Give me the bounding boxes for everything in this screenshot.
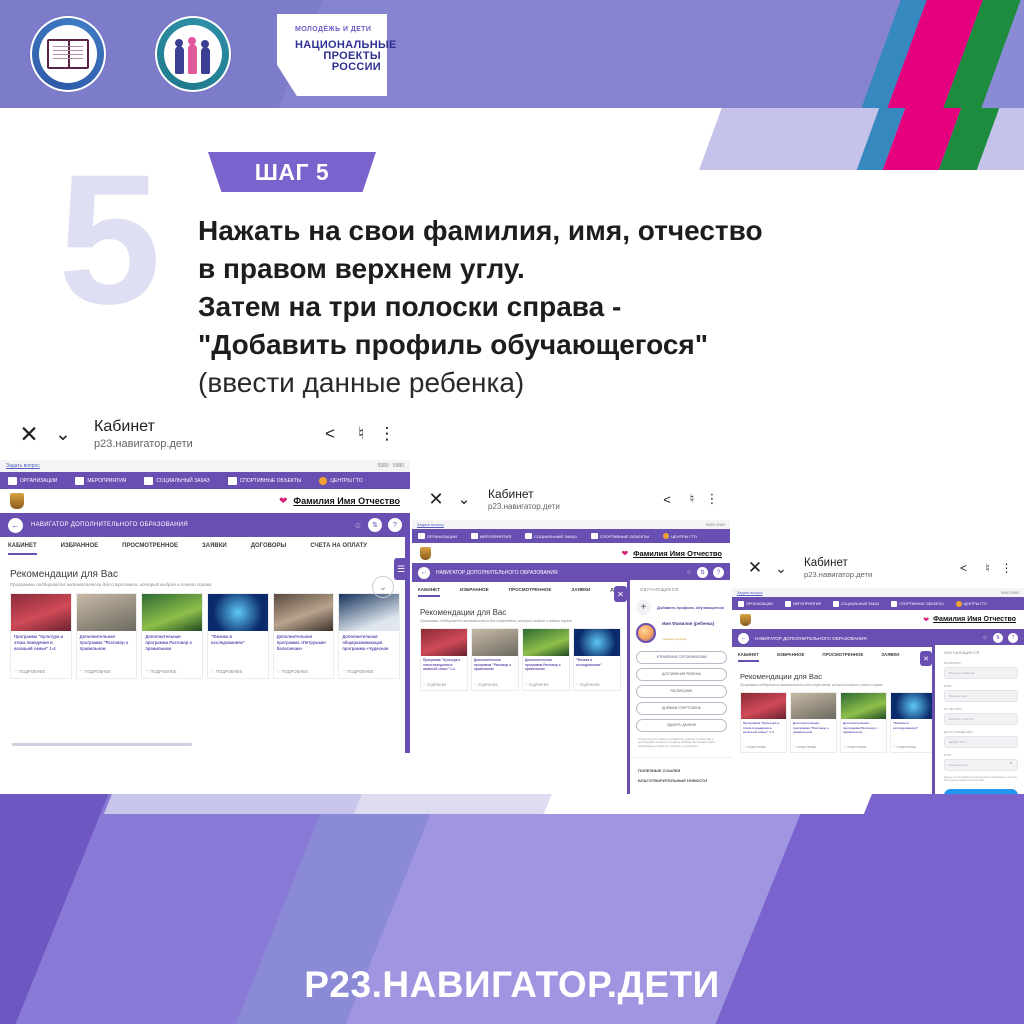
field-label-gender: ПОЛ xyxy=(944,753,1018,757)
card-more[interactable]: ♡ ПОДРОБНЕЕ xyxy=(274,667,334,678)
card-thumbnail xyxy=(421,629,467,656)
reco-title-1: Рекомендации для Вас xyxy=(10,569,400,580)
step-badge-label: ШАГ 5 xyxy=(255,159,329,186)
topnav-item-organizations[interactable]: ОРГАНИЗАЦИИ xyxy=(418,533,457,539)
btn-delete-data[interactable]: УДАЛИТЬ ДАННЫЕ xyxy=(636,719,727,732)
browser-toolbar-1: ✕ ⌄ Кабинет p23.навигатор.дети < ♮ ⋮ xyxy=(0,408,410,460)
card-more[interactable]: ♡ ПОДРОБНЕЕ xyxy=(841,744,886,752)
topnav-item-social-order[interactable]: СОЦИАЛЬНЫЙ ЗАКАЗ xyxy=(525,533,577,539)
drawer-close-icon[interactable]: ✕ xyxy=(920,651,932,666)
site-topnav-2: ОРГАНИЗАЦИИ МЕРОПРИЯТИЯ СОЦИАЛЬНЫЙ ЗАКАЗ… xyxy=(412,529,730,543)
browser-title: Кабинет xyxy=(804,557,951,569)
regional-center-logo xyxy=(155,16,231,92)
tab-kabinet[interactable]: КАБИНЕТ xyxy=(8,543,37,555)
link-useful[interactable]: ПОЛЕЗНЫЕ ССЫЛКИ xyxy=(638,768,725,773)
program-card[interactable]: "Физика в исследованиях" ♡ ПОДРОБНЕЕ xyxy=(573,628,621,691)
gto-icon xyxy=(319,477,327,485)
name-field[interactable]: Введите имя xyxy=(944,690,1018,702)
add-profile-row[interactable]: + Добавить профиль обучающегося xyxy=(630,592,733,615)
topnav-item-sport-objects[interactable]: СПОРТИВНЫЕ ОБЪЕКТЫ xyxy=(228,477,302,485)
person-icon[interactable]: ☺ xyxy=(686,570,692,576)
help-icon[interactable]: ? xyxy=(1008,633,1018,643)
document-icon xyxy=(833,601,839,607)
card-title: Дополнительная программа Разговор о прав… xyxy=(142,631,202,667)
footer-decoration: P23.НАВИГАТОР.ДЕТИ xyxy=(0,794,1024,1024)
more-vertical-icon[interactable]: ⋮ xyxy=(704,491,720,507)
card-more[interactable]: ♡ ПОДРОБНЕЕ xyxy=(791,744,836,752)
headline-line-4: "Добавить профиль обучающегося" xyxy=(198,326,998,364)
card-more[interactable]: ♡ ПОДРОБНЕЕ xyxy=(142,667,202,678)
stadium-icon xyxy=(891,601,897,607)
share-icon[interactable]: < xyxy=(654,492,680,507)
plus-icon: + xyxy=(636,600,651,615)
card-more[interactable]: ♡ ПОДРОБНЕЕ xyxy=(339,667,399,678)
heart-icon: ❤ xyxy=(621,549,628,558)
chevron-up-icon: ⌃ xyxy=(1009,762,1013,768)
card-thumbnail xyxy=(339,594,399,631)
building-icon xyxy=(8,477,17,485)
card-thumbnail xyxy=(11,594,71,631)
topnav-item-events[interactable]: МЕРОПРИЯТИЯ xyxy=(471,533,511,539)
browser-toolbar-3: ✕ ⌄ Кабинет p23.навигатор.дети < ♮ ⋮ xyxy=(732,548,1024,588)
headline-line-1: Нажать на свои фамилия, имя, отчество xyxy=(198,212,998,250)
card-more[interactable]: ♡ ПОДРОБНЕЕ xyxy=(523,682,569,690)
drawer-note: Чтобы получить новые сертификаты, данные… xyxy=(630,732,733,749)
drawer-actions: УПРАВЛЕНИЕ СЕРТИФИКАТАМИ ДОСТИЖЕНИЯ РЕБЕ… xyxy=(630,645,733,732)
site-utility-bar-2: Задать вопрос 5980 5980 xyxy=(412,520,730,529)
topnav-item-organizations[interactable]: ОРГАНИЗАЦИИ xyxy=(8,477,57,485)
arrow-left-icon[interactable]: ← xyxy=(738,633,749,644)
tab-invoices[interactable]: СЧЕТА НА ОПЛАТУ xyxy=(310,543,367,549)
navigator-title-1: НАВИГАТОР ДОПОЛНИТЕЛЬНОГО ОБРАЗОВАНИЯ xyxy=(31,522,188,528)
card-thumbnail xyxy=(791,693,836,719)
card-thumbnail xyxy=(472,629,518,656)
site-userbar-1: ❤ Фамилия Имя Отчество xyxy=(0,489,410,513)
birthdate-field[interactable]: ДД.ММ.ГГГГ xyxy=(944,736,1018,748)
card-title: Дополнительная программа "Разговор о пра… xyxy=(472,656,518,682)
help-icon[interactable]: ? xyxy=(388,518,402,532)
topnav-item-organizations[interactable]: ОРГАНИЗАЦИИ xyxy=(738,601,773,607)
card-more[interactable]: ♡ ПОДРОБНЕЕ xyxy=(472,682,518,690)
site-topnav-1: ОРГАНИЗАЦИИ МЕРОПРИЯТИЯ СОЦИАЛЬНЫЙ ЗАКАЗ… xyxy=(0,472,410,489)
btn-athlete-diary[interactable]: ДНЕВНИК СПОРТСМЕНА xyxy=(636,702,727,715)
tab-requests[interactable]: ЗАЯВКИ xyxy=(881,652,899,657)
field-label-name: ИМЯ xyxy=(944,684,1018,688)
tab-contracts[interactable]: ДОГОВОРЫ xyxy=(251,543,287,549)
add-profile-label: Добавить профиль обучающегося xyxy=(657,605,724,611)
program-card[interactable]: Дополнительная программа "Разговор о пра… xyxy=(76,593,138,679)
close-icon[interactable]: ✕ xyxy=(12,421,46,448)
help-icon[interactable]: ? xyxy=(713,567,724,578)
card-title: Дополнительная программа Разговор о прав… xyxy=(841,719,886,744)
tab-requests[interactable]: ЗАЯВКИ xyxy=(202,543,227,549)
patronymic-field[interactable]: Введите отчество xyxy=(944,713,1018,725)
site-userbar-3: ❤ Фамилия Имя Отчество xyxy=(732,610,1024,629)
program-card[interactable]: Программа "Культура и этика поведения в … xyxy=(740,692,787,753)
bookmark-icon[interactable]: ♮ xyxy=(346,424,376,444)
program-card[interactable]: Дополнительная программа Разговор о прав… xyxy=(141,593,203,679)
tab-favorites[interactable]: ИЗБРАННОЕ xyxy=(61,543,99,549)
field-label-birthdate: ДАТА РОЖДЕНИЯ xyxy=(944,730,1018,734)
counters-3: 5980 5980 xyxy=(1001,591,1019,595)
topnav-item-events[interactable]: МЕРОПРИЯТИЯ xyxy=(75,477,126,485)
stadium-icon xyxy=(228,477,237,485)
card-more[interactable]: ♡ ПОДРОБНЕЕ xyxy=(77,667,137,678)
heart-icon: ❤ xyxy=(923,616,929,624)
site-topnav-3: ОРГАНИЗАЦИИ МЕРОПРИЯТИЯ СОЦИАЛЬНЫЙ ЗАКАЗ… xyxy=(732,597,1024,610)
card-thumbnail xyxy=(274,594,334,631)
topnav-item-gto[interactable]: ЦЕНТРЫ ГТО xyxy=(956,601,987,607)
tab-viewed[interactable]: ПРОСМОТРЕННОЕ xyxy=(509,587,552,592)
card-thumbnail xyxy=(208,594,268,631)
gender-select-value: Выберите пол xyxy=(949,763,969,767)
krasnodar-coat-of-arms xyxy=(10,493,24,509)
document-icon xyxy=(525,533,532,539)
topnav-item-sport-objects[interactable]: СПОРТИВНЫЕ ОБЪЕКТЫ xyxy=(591,533,649,539)
np-main-line: НАЦИОНАЛЬНЫЕ ПРОЕКТЫ РОССИИ xyxy=(295,40,381,73)
card-title: Дополнительная программа «Петрушкин бала… xyxy=(274,631,334,667)
card-thumbnail xyxy=(891,693,936,719)
browser-title: Кабинет xyxy=(488,487,654,501)
card-title: "Физика в исследованиях" xyxy=(574,656,620,682)
topnav-item-sport-objects[interactable]: СПОРТИВНЫЕ ОБЪЕКТЫ xyxy=(891,601,943,607)
card-thumbnail xyxy=(142,594,202,631)
card-title: Программа "Культура и этика поведения в … xyxy=(741,719,786,744)
card-thumbnail xyxy=(523,629,569,656)
np-top-line: МОЛОДЁЖЬ И ДЕТИ xyxy=(295,26,371,33)
tab-requests[interactable]: ЗАЯВКИ xyxy=(571,587,590,592)
card-more[interactable]: ♡ ПОДРОБНЕЕ xyxy=(741,744,786,752)
tab-viewed[interactable]: ПРОСМОТРЕННОЕ xyxy=(822,652,863,657)
screenshot-panel-2: ✕ ⌄ Кабинет p23.навигатор.дети < ♮ ⋮ Зад… xyxy=(412,478,730,813)
krasnodar-coat-of-arms xyxy=(420,547,431,560)
link-charity-news[interactable]: БЛАГОТВОРИТЕЛЬНЫЕ НОВОСТИ xyxy=(638,778,725,783)
user-fullname-2[interactable]: Фамилия Имя Отчество xyxy=(633,549,722,558)
field-label-surname: ФАМИЛИЯ xyxy=(944,661,1018,665)
card-title: Дополнительная общеразвивающая программа… xyxy=(339,631,399,667)
horizontal-scrollbar[interactable] xyxy=(12,743,192,746)
site-utility-bar-1: Задать вопрос 5980 5980 xyxy=(0,460,410,472)
gto-icon xyxy=(663,533,669,539)
close-icon[interactable]: ✕ xyxy=(422,489,450,510)
arrow-left-icon[interactable]: ← xyxy=(8,518,23,533)
arrow-left-icon[interactable]: ← xyxy=(418,567,430,579)
page-title: Нажать на свои фамилия, имя, отчество в … xyxy=(198,212,998,402)
browser-title: Кабинет xyxy=(94,418,314,436)
program-card[interactable]: Дополнительная программа «Петрушкин бала… xyxy=(273,593,335,679)
card-more[interactable]: ♡ ПОДРОБНЕЕ xyxy=(891,744,936,752)
students-drawer: ✕ ОБУЧАЮЩИЕСЯ + Добавить профиль обучающ… xyxy=(627,580,733,813)
topnav-item-events[interactable]: МЕРОПРИЯТИЯ xyxy=(785,601,821,607)
card-thumbnail xyxy=(841,693,886,719)
navigator-bar-1: ← НАВИГАТОР ДОПОЛНИТЕЛЬНОГО ОБРАЗОВАНИЯ … xyxy=(0,513,410,537)
card-title: "Физика в исследованиях" xyxy=(891,719,936,744)
share-icon[interactable]: < xyxy=(314,424,346,444)
browser-toolbar-2: ✕ ⌄ Кабинет p23.навигатор.дети < ♮ ⋮ xyxy=(412,478,730,520)
share-icon[interactable]: < xyxy=(951,561,976,575)
tab-kabinet[interactable]: КАБИНЕТ xyxy=(738,652,759,662)
bookmark-icon[interactable]: ♮ xyxy=(976,561,999,575)
diagonal-ribbon xyxy=(600,0,1024,170)
chevron-down-icon[interactable]: ⌄ xyxy=(46,423,80,446)
form-heading: ОБУЧАЮЩИЕСЯ xyxy=(935,645,1024,655)
avatar xyxy=(636,623,656,643)
card-more[interactable]: ♡ ПОДРОБНЕЕ xyxy=(208,667,268,678)
card-title: Дополнительная программа "Разговор о пра… xyxy=(791,719,836,744)
card-title: Программа "Культура и этика поведения в … xyxy=(11,631,71,667)
program-card[interactable]: Дополнительная общеразвивающая программа… xyxy=(338,593,400,679)
headline-line-3: Затем на три полоски справа - xyxy=(198,288,998,326)
counters-1: 5980 5980 xyxy=(378,463,404,469)
step-number-watermark: 5 xyxy=(58,158,155,323)
cabinet-tabs-1: КАБИНЕТ ИЗБРАННОЕ ПРОСМОТРЕННОЕ ЗАЯВКИ Д… xyxy=(0,537,410,565)
chevron-down-icon[interactable]: ⌄ xyxy=(372,576,394,598)
card-title: "Физика в исследованиях" xyxy=(208,631,268,667)
program-card[interactable]: Программа "Культура и этика поведения в … xyxy=(420,628,468,691)
browser-url: p23.навигатор.дети xyxy=(94,438,314,450)
calendar-icon xyxy=(471,533,478,539)
program-card[interactable]: Дополнительная программа Разговор о прав… xyxy=(522,628,570,691)
gender-select[interactable]: Выберите пол ⌃ xyxy=(944,759,1018,771)
program-card[interactable]: Дополнительная программа "Разговор о пра… xyxy=(790,692,837,753)
user-fullname-1[interactable]: Фамилия Имя Отчество xyxy=(293,496,400,506)
card-more[interactable]: ♡ ПОДРОБНЕЕ xyxy=(11,667,71,678)
building-icon xyxy=(738,601,744,607)
poster-canvas: МОЛОДЁЖЬ И ДЕТИ НАЦИОНАЛЬНЫЕ ПРОЕКТЫ РОС… xyxy=(0,0,1024,1024)
compare-icon[interactable]: ⇅ xyxy=(368,518,382,532)
btn-child-achievements[interactable]: ДОСТИЖЕНИЯ РЕБЕНКА xyxy=(636,668,727,681)
program-card[interactable]: Программа "Культура и этика поведения в … xyxy=(10,593,72,679)
topnav-item-social-order[interactable]: СОЦИАЛЬНЫЙ ЗАКАЗ xyxy=(144,477,209,485)
tab-viewed[interactable]: ПРОСМОТРЕННОЕ xyxy=(122,543,178,549)
user-fullname-3[interactable]: Фамилия Имя Отчество xyxy=(933,616,1016,623)
person-icon[interactable]: ☺ xyxy=(354,521,362,530)
topnav-item-gto[interactable]: ЦЕНТРЫ ГТО xyxy=(319,477,362,485)
btn-manage-certificates[interactable]: УПРАВЛЕНИЕ СЕРТИФИКАТАМИ xyxy=(636,651,727,664)
more-vertical-icon[interactable]: ⋮ xyxy=(999,561,1014,575)
browser-url: p23.навигатор.дети xyxy=(488,502,654,511)
program-card[interactable]: "Физика в исследованиях" ♡ ПОДРОБНЕЕ xyxy=(207,593,269,679)
card-title: Дополнительная программа Разговор о прав… xyxy=(523,656,569,682)
compare-icon[interactable]: ⇅ xyxy=(993,633,1003,643)
drawer-heading: ОБУЧАЮЩИЕСЯ xyxy=(630,580,733,592)
panel-edge-accent xyxy=(405,514,410,753)
site-utility-bar-3: Задать вопрос 5980 5980 xyxy=(732,588,1024,597)
topnav-item-gto[interactable]: ЦЕНТРЫ ГТО xyxy=(663,533,697,539)
site-userbar-2: ❤ Фамилия Имя Отчество xyxy=(412,543,730,563)
btn-schedule[interactable]: РАСПИСАНИЕ xyxy=(636,685,727,698)
card-more[interactable]: ♡ ПОДРОБНЕЕ xyxy=(421,682,467,690)
close-icon[interactable]: ✕ xyxy=(742,558,768,578)
drawer-links: ПОЛЕЗНЫЕ ССЫЛКИ БЛАГОТВОРИТЕЛЬНЫЕ НОВОСТ… xyxy=(630,757,733,783)
tab-favorites[interactable]: ИЗБРАННОЕ xyxy=(777,652,804,657)
document-icon xyxy=(144,477,153,485)
chevron-down-icon[interactable]: ⌄ xyxy=(450,490,478,508)
card-thumbnail xyxy=(77,594,137,631)
footer-title: P23.НАВИГАТОР.ДЕТИ xyxy=(0,964,1024,1006)
field-label-patronymic: ОТЧЕСТВО xyxy=(944,707,1018,711)
krasnodar-coat-of-arms xyxy=(740,614,751,626)
screenshot-panel-1: ✕ ⌄ Кабинет p23.навигатор.дети < ♮ ⋮ Зад… xyxy=(0,408,410,753)
building-icon xyxy=(418,533,425,539)
headline-soft-line: (ввести данные ребенка) xyxy=(198,364,998,402)
search-hint-1[interactable]: Задать вопрос xyxy=(6,463,40,469)
topnav-item-social-order[interactable]: СОЦИАЛЬНЫЙ ЗАКАЗ xyxy=(833,601,879,607)
child-subtitle: главный профиль xyxy=(662,637,687,641)
card-thumbnail xyxy=(741,693,786,719)
navigator-title-3: НАВИГАТОР ДОПОЛНИТЕЛЬНОГО ОБРАЗОВАНИЯ xyxy=(755,636,867,641)
surname-field[interactable]: Введите фамилию xyxy=(944,667,1018,679)
calendar-icon xyxy=(785,601,791,607)
ministry-logo xyxy=(30,16,106,92)
navigator-title-2: НАВИГАТОР ДОПОЛНИТЕЛЬНОГО ОБРАЗОВАНИЯ xyxy=(436,570,558,576)
step-badge: ШАГ 5 xyxy=(208,152,376,192)
card-title: Программа "Культура и этика поведения в … xyxy=(421,656,467,682)
headline-line-2: в правом верхнем углу. xyxy=(198,250,998,288)
heart-icon: ❤ xyxy=(279,496,287,507)
search-hint-3[interactable]: Задать вопрос xyxy=(737,591,763,595)
browser-url: p23.навигатор.дети xyxy=(804,570,951,579)
program-card[interactable]: Дополнительная программа Разговор о прав… xyxy=(840,692,887,753)
card-title: Дополнительная программа "Разговор о пра… xyxy=(77,631,137,667)
program-card[interactable]: Дополнительная программа "Разговор о пра… xyxy=(471,628,519,691)
gto-icon xyxy=(956,601,962,607)
child-name: Имя Фамилия (ребенка) xyxy=(662,621,714,627)
chevron-down-icon[interactable]: ⌄ xyxy=(768,560,794,577)
tab-kabinet[interactable]: КАБИНЕТ xyxy=(418,587,440,597)
stadium-icon xyxy=(591,533,598,539)
form-hint: Данные из сертификата дополнительного об… xyxy=(944,776,1018,783)
compare-icon[interactable]: ⇅ xyxy=(697,567,708,578)
program-card[interactable]: "Физика в исследованиях" ♡ ПОДРОБНЕЕ xyxy=(890,692,937,753)
card-thumbnail xyxy=(574,629,620,656)
reco-block-1: Рекомендации для Вас Программы подбирают… xyxy=(0,565,410,587)
person-icon[interactable]: ☺ xyxy=(982,635,988,641)
calendar-icon xyxy=(75,477,84,485)
reco-cards-1: Программа "Культура и этика поведения в … xyxy=(0,587,410,685)
tab-favorites[interactable]: ИЗБРАННОЕ xyxy=(460,587,489,592)
drawer-close-icon[interactable]: ✕ xyxy=(614,586,627,602)
counters-2: 5980 5980 xyxy=(706,522,725,527)
child-profile-row[interactable]: Имя Фамилия (ребенка) главный профиль xyxy=(630,615,733,645)
more-vertical-icon[interactable]: ⋮ xyxy=(376,424,398,444)
bookmark-icon[interactable]: ♮ xyxy=(680,491,704,507)
search-hint-2[interactable]: Задать вопрос xyxy=(417,522,444,527)
card-more[interactable]: ♡ ПОДРОБНЕЕ xyxy=(574,682,620,690)
